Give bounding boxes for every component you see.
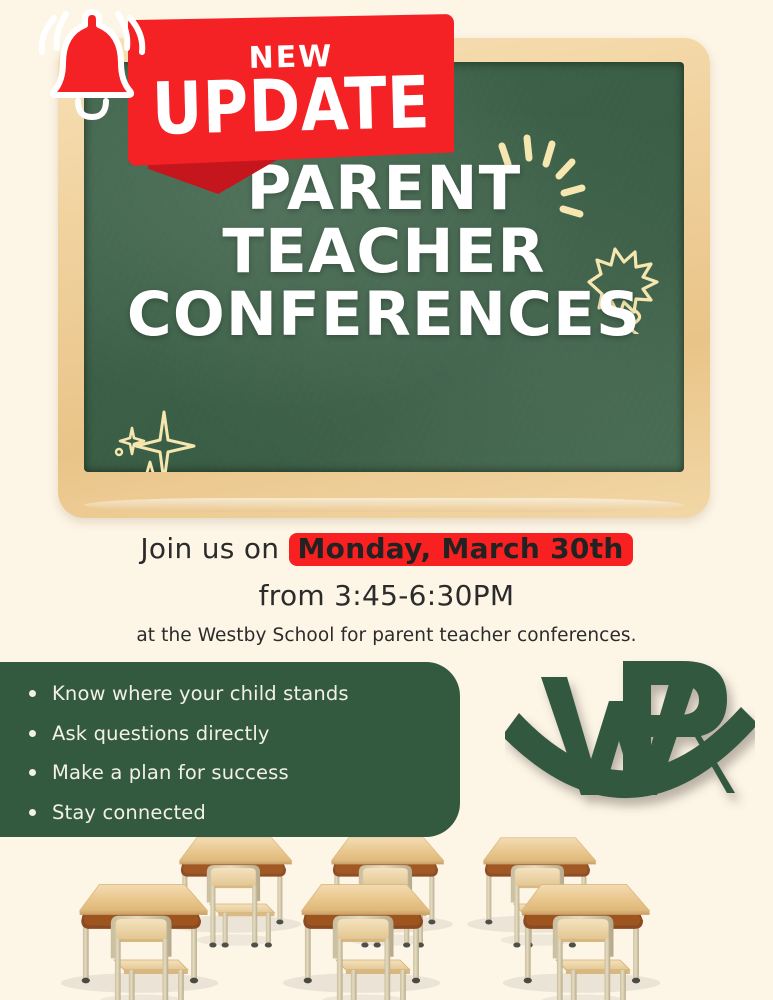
list-item: Know where your child stands [52,684,460,704]
list-item: Stay connected [52,803,460,823]
list-item: Make a plan for success [52,763,460,783]
event-time-line: from 3:45-6:30PM [0,579,773,612]
chalk-sparkle-stars-icon [106,400,216,472]
benefits-list: Know where your child stands Ask questio… [52,684,460,822]
list-item: Ask questions directly [52,724,460,744]
title-line-2: TEACHER [84,221,684,284]
classroom-desks-illustration [0,830,773,1000]
bell-icon [28,6,156,136]
title-line-3: CONFERENCES [84,284,684,347]
new-update-banner: NEW UPDATE [128,14,454,179]
wr-logo [505,655,755,820]
benefits-panel: Know where your child stands Ask questio… [0,662,460,837]
event-date-line: Join us on Monday, March 30th [0,532,773,566]
date-highlight: Monday, March 30th [289,533,633,566]
event-info: Join us on Monday, March 30th from 3:45-… [0,532,773,646]
join-prefix: Join us on [140,532,288,565]
chalkboard-title: PARENT TEACHER CONFERENCES [84,158,684,346]
banner-headline: UPDATE [127,59,455,152]
event-location-line: at the Westby School for parent teacher … [0,625,773,646]
poster-canvas: GET [0,0,773,1000]
